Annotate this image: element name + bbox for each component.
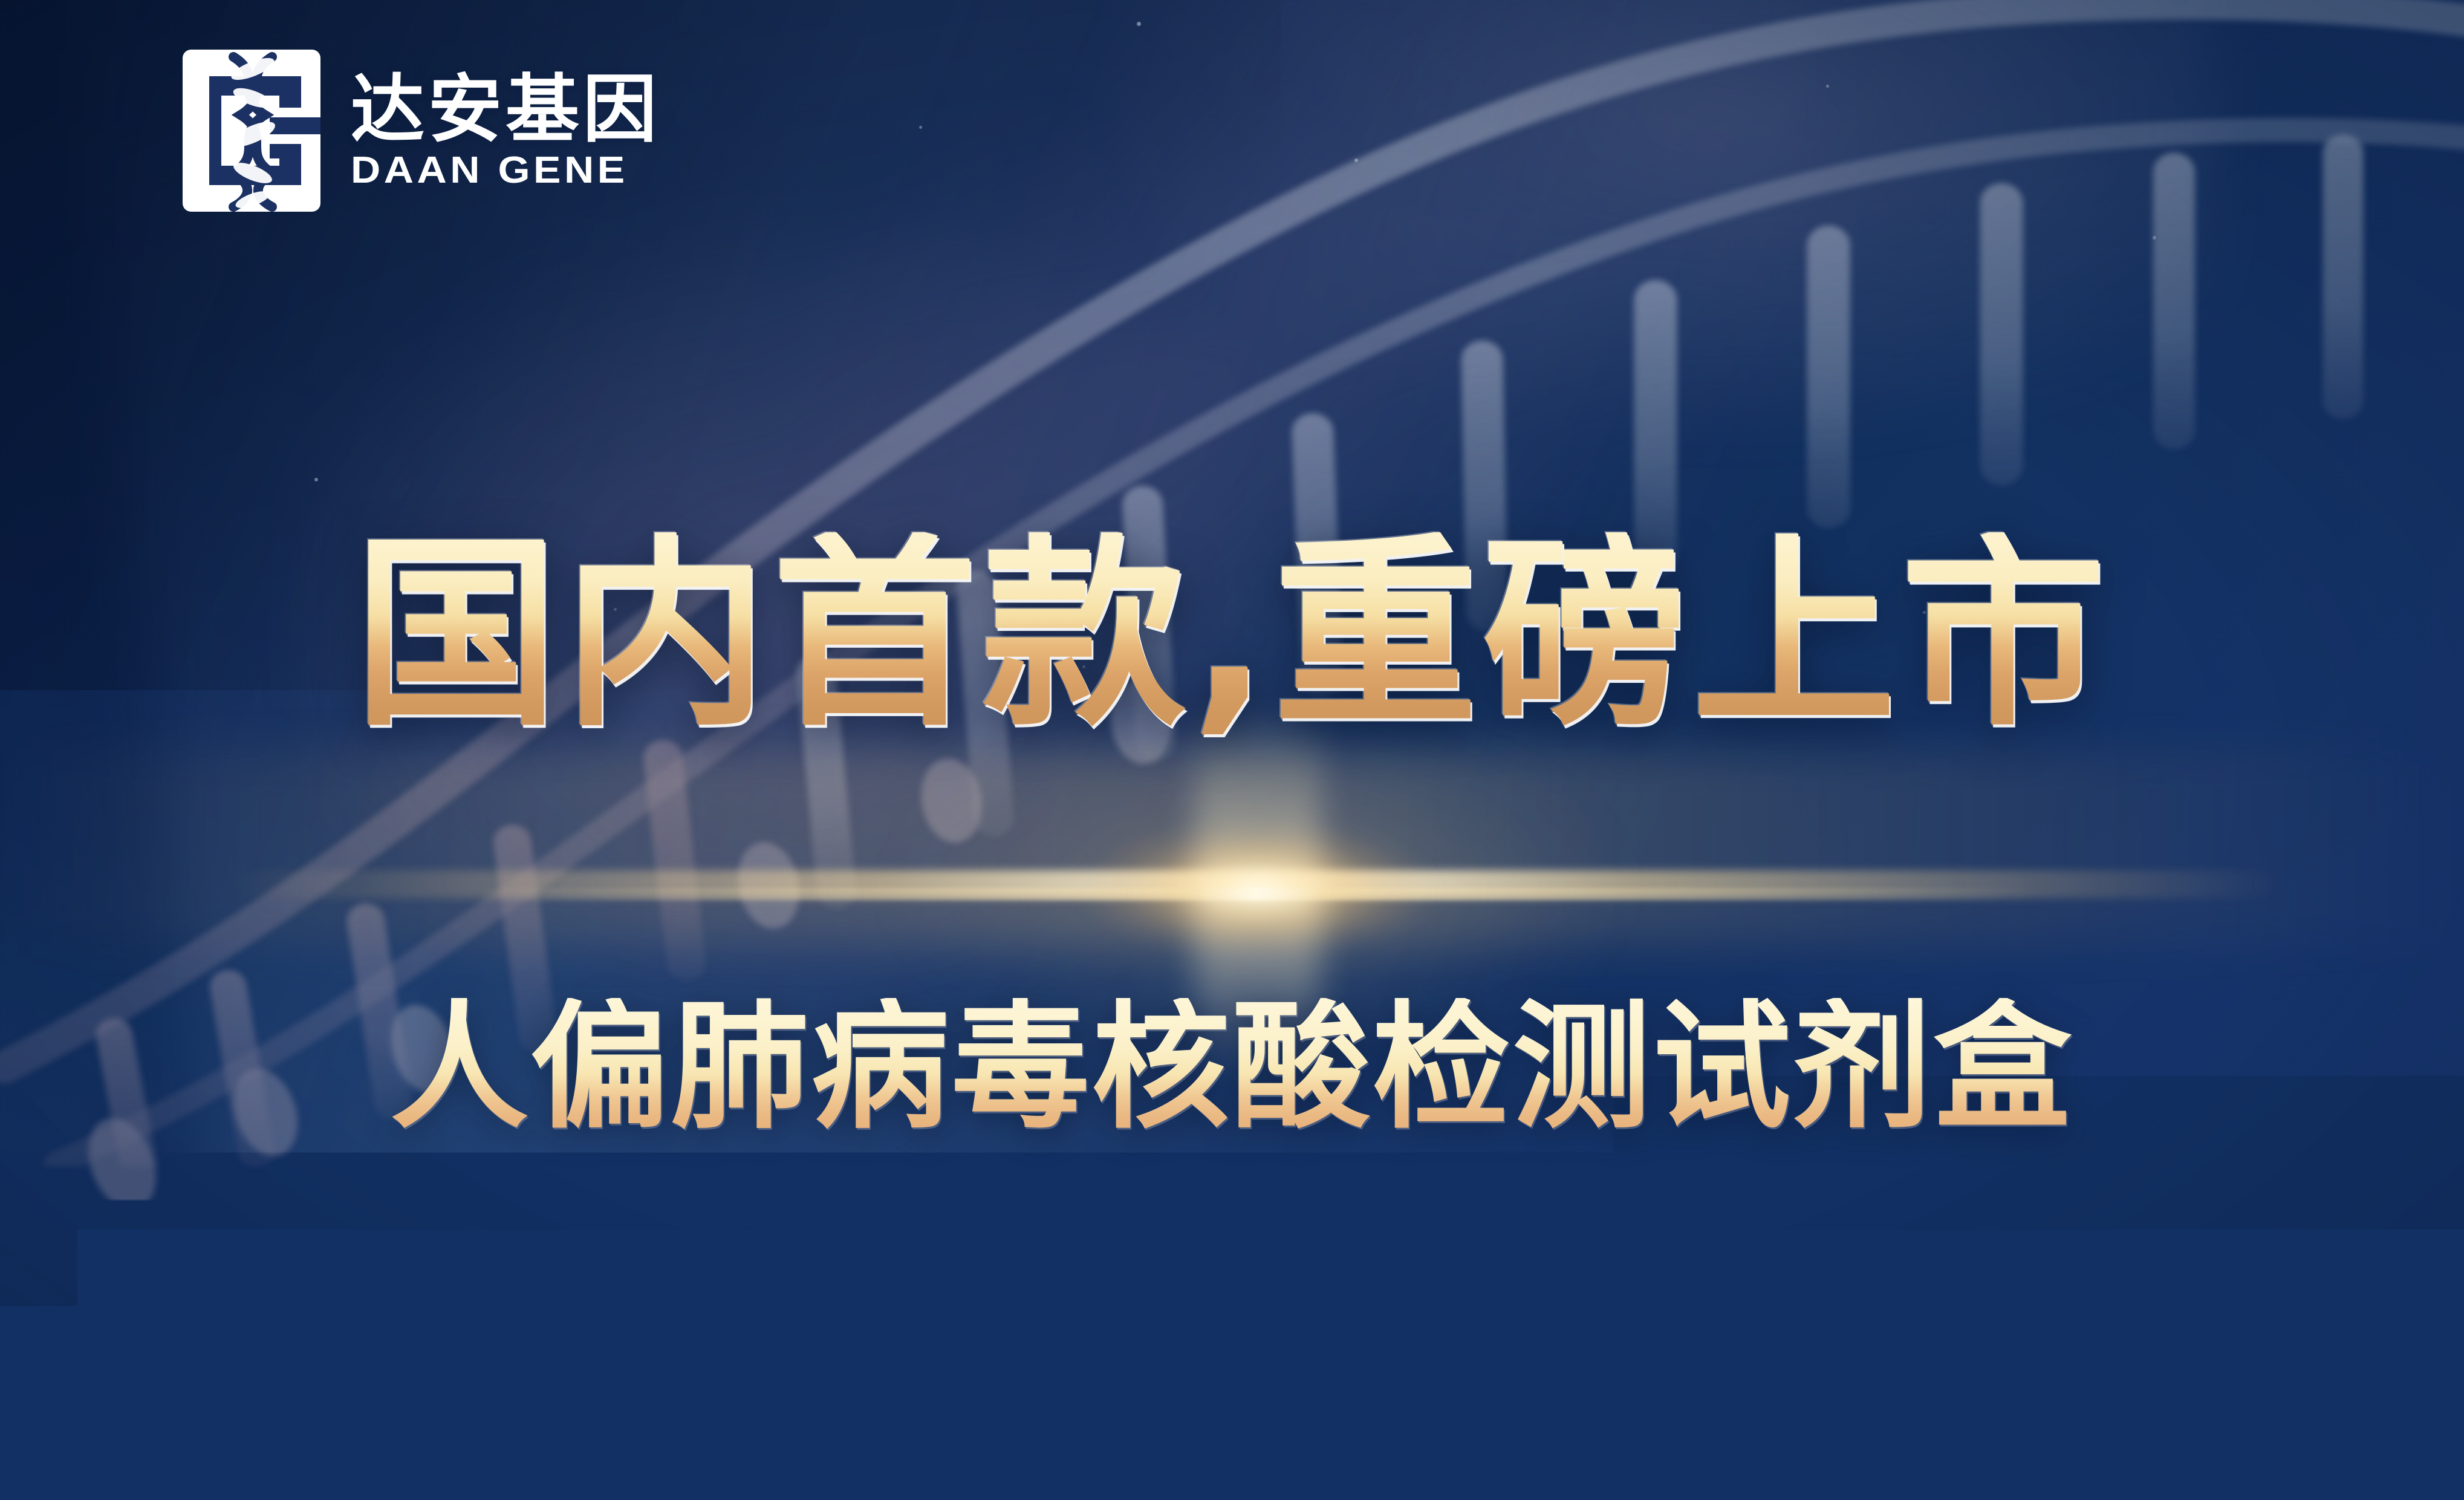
brand-logo[interactable]: 达安基因 DAAN GENE [180,47,660,214]
promo-banner: 达安基因 DAAN GENE 国内首款,重磅上市 人偏肺病毒核酸检测试剂盒 （P… [0,0,2464,1500]
daan-gene-dna-square-logo [180,47,323,214]
brand-name-cn: 达安基因 [351,71,660,148]
background-vignette [0,0,2464,1500]
brand-logo-wordmark: 达安基因 DAAN GENE [351,71,660,191]
brand-name-en: DAAN GENE [351,151,691,191]
